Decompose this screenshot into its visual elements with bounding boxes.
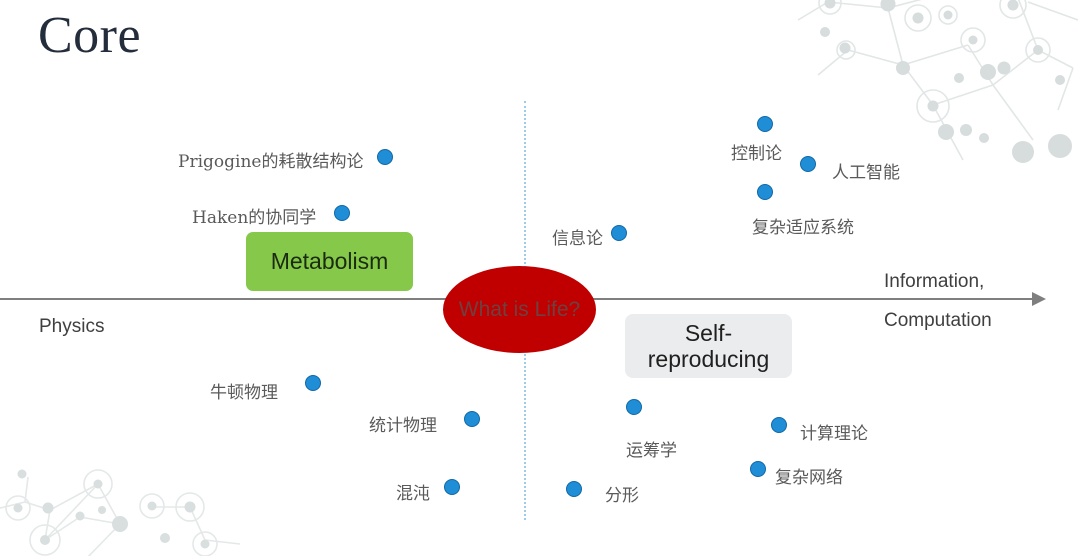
scatter-point-label: 复杂网络: [775, 463, 843, 488]
self-reproducing-label: Self- reproducing: [648, 320, 769, 373]
network-graph-decoration-bottom-left: [0, 432, 250, 556]
scatter-point-label: Haken的协同学: [192, 203, 316, 228]
self-reproducing-box[interactable]: Self- reproducing: [625, 314, 792, 378]
scatter-dot[interactable]: [626, 399, 642, 415]
self-reproducing-label-line1: Self-: [685, 320, 732, 346]
scatter-dot[interactable]: [757, 116, 773, 132]
self-reproducing-label-line2: reproducing: [648, 346, 769, 372]
x-axis-arrow-icon: [1032, 292, 1046, 306]
metabolism-box[interactable]: Metabolism: [246, 232, 413, 291]
axis-label-information: Information,: [884, 271, 984, 293]
scatter-dot[interactable]: [771, 417, 787, 433]
scatter-dot[interactable]: [444, 479, 460, 495]
scatter-dot[interactable]: [377, 149, 393, 165]
scatter-point-label: 牛顿物理: [210, 378, 278, 403]
scatter-point-label: 计算理论: [800, 419, 868, 444]
scatter-point-label: Prigogine的耗散结构论: [178, 147, 363, 172]
network-graph-decoration-top-right: [788, 0, 1080, 180]
scatter-dot[interactable]: [566, 481, 582, 497]
scatter-point-label: 复杂适应系统: [752, 213, 854, 238]
slide-canvas: Core Physics Information, Computation Me…: [0, 0, 1080, 556]
scatter-dot[interactable]: [464, 411, 480, 427]
axis-label-physics: Physics: [39, 316, 104, 338]
scatter-dot[interactable]: [800, 156, 816, 172]
scatter-point-label: 控制论: [731, 139, 782, 164]
scatter-dot[interactable]: [334, 205, 350, 221]
scatter-dot[interactable]: [757, 184, 773, 200]
scatter-point-label: 信息论: [552, 224, 603, 249]
scatter-point-label: 人工智能: [832, 158, 900, 183]
scatter-dot[interactable]: [750, 461, 766, 477]
scatter-point-label: 分形: [605, 481, 639, 506]
axis-label-computation: Computation: [884, 310, 992, 332]
scatter-point-label: 混沌: [396, 479, 430, 504]
scatter-point-label: 运筹学: [626, 436, 677, 461]
metabolism-label: Metabolism: [271, 248, 389, 275]
scatter-dot[interactable]: [611, 225, 627, 241]
page-title: Core: [38, 6, 141, 66]
scatter-point-label: 统计物理: [369, 411, 437, 436]
what-is-life-ellipse[interactable]: What is Life?: [443, 266, 596, 353]
what-is-life-label: What is Life?: [459, 298, 580, 322]
scatter-dot[interactable]: [305, 375, 321, 391]
